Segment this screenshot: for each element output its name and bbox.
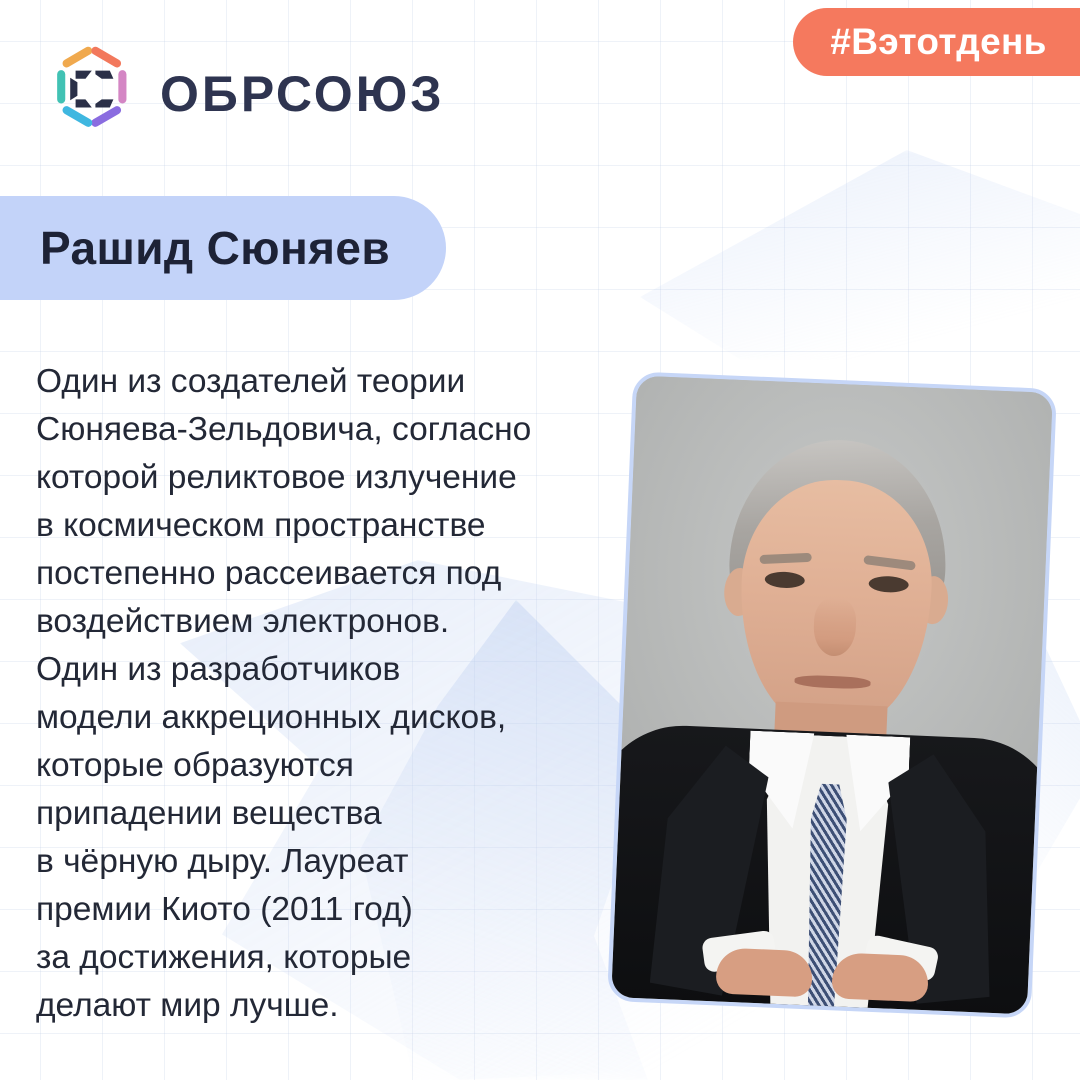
person-name-label: Рашид Сюняев: [40, 221, 390, 275]
portrait-photo: [611, 376, 1053, 1015]
portrait-photo-frame: [607, 371, 1057, 1018]
hexagon-logo-icon: [36, 40, 144, 148]
photo-hand-right: [831, 952, 929, 1002]
photo-hand-left: [715, 947, 813, 997]
biography-text: Один из создателей теории Сюняева-Зельдо…: [36, 358, 596, 1030]
hashtag-badge-label: #Вэтотдень: [830, 21, 1046, 63]
poster-canvas: ОБРСОЮЗ #Вэтотдень Рашид Сюняев Один из …: [0, 0, 1080, 1080]
hashtag-badge[interactable]: #Вэтотдень: [793, 8, 1080, 76]
person-name-pill: Рашид Сюняев: [0, 196, 446, 300]
brand-logo[interactable]: ОБРСОЮЗ: [36, 40, 445, 148]
background-accent-shape-top: [640, 150, 1080, 360]
brand-wordmark: ОБРСОЮЗ: [160, 69, 445, 119]
